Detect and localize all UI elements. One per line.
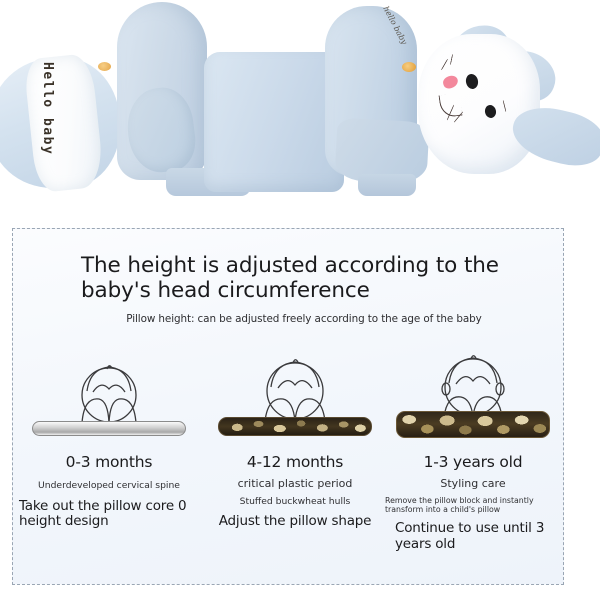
product-infographic-screen: Hello baby hello baby The height is adju…: [0, 0, 600, 600]
bear-head: [418, 34, 540, 174]
stage-action: Continue to use until 3 years old: [381, 521, 565, 552]
pillow-tab-two: [358, 174, 416, 196]
pillow-center-mattress: [204, 52, 344, 192]
stage-figure: [17, 349, 201, 449]
product-photo: Hello baby hello baby: [0, 0, 600, 215]
stage-columns: 0-3 months Underdeveloped cervical spine…: [13, 349, 565, 584]
stage-note-top: Styling care: [381, 478, 565, 490]
stage-figure: [203, 349, 387, 449]
stage-age-label: 0-3 months: [17, 453, 201, 471]
stage-age-label: 4-12 months: [203, 453, 387, 471]
stage-note: Stuffed buckwheat hulls: [203, 496, 387, 508]
stage-note: Underdeveloped cervical spine: [17, 480, 201, 492]
pillow-bar-buckwheat-medium: [218, 417, 372, 436]
stage-column-4-12-months: 4-12 months critical plastic period Stuf…: [203, 349, 387, 530]
info-panel: The height is adjusted according to the …: [12, 228, 564, 585]
pillow-bar-buckwheat-full: [396, 411, 550, 438]
panel-subhead: Pillow height: can be adjusted freely ac…: [69, 313, 539, 325]
hello-baby-embroidery: Hello baby: [40, 62, 55, 155]
stage-note: Remove the pillow block and instantly tr…: [381, 496, 565, 515]
orange-patch-right-icon: [402, 62, 416, 72]
panel-headline: The height is adjusted according to the …: [81, 253, 531, 303]
stage-action: Adjust the pillow shape: [203, 514, 387, 530]
pillow-bar-flat: [32, 421, 186, 436]
stage-column-1-3-years: 1-3 years old Styling care Remove the pi…: [381, 349, 565, 552]
stage-action: Take out the pillow core 0 height design: [17, 499, 201, 530]
stage-column-0-3-months: 0-3 months Underdeveloped cervical spine…: [17, 349, 201, 530]
orange-patch-left-icon: [98, 62, 111, 71]
stage-age-label: 1-3 years old: [381, 453, 565, 471]
stage-figure: [381, 349, 565, 449]
stage-note-top: critical plastic period: [203, 478, 387, 490]
